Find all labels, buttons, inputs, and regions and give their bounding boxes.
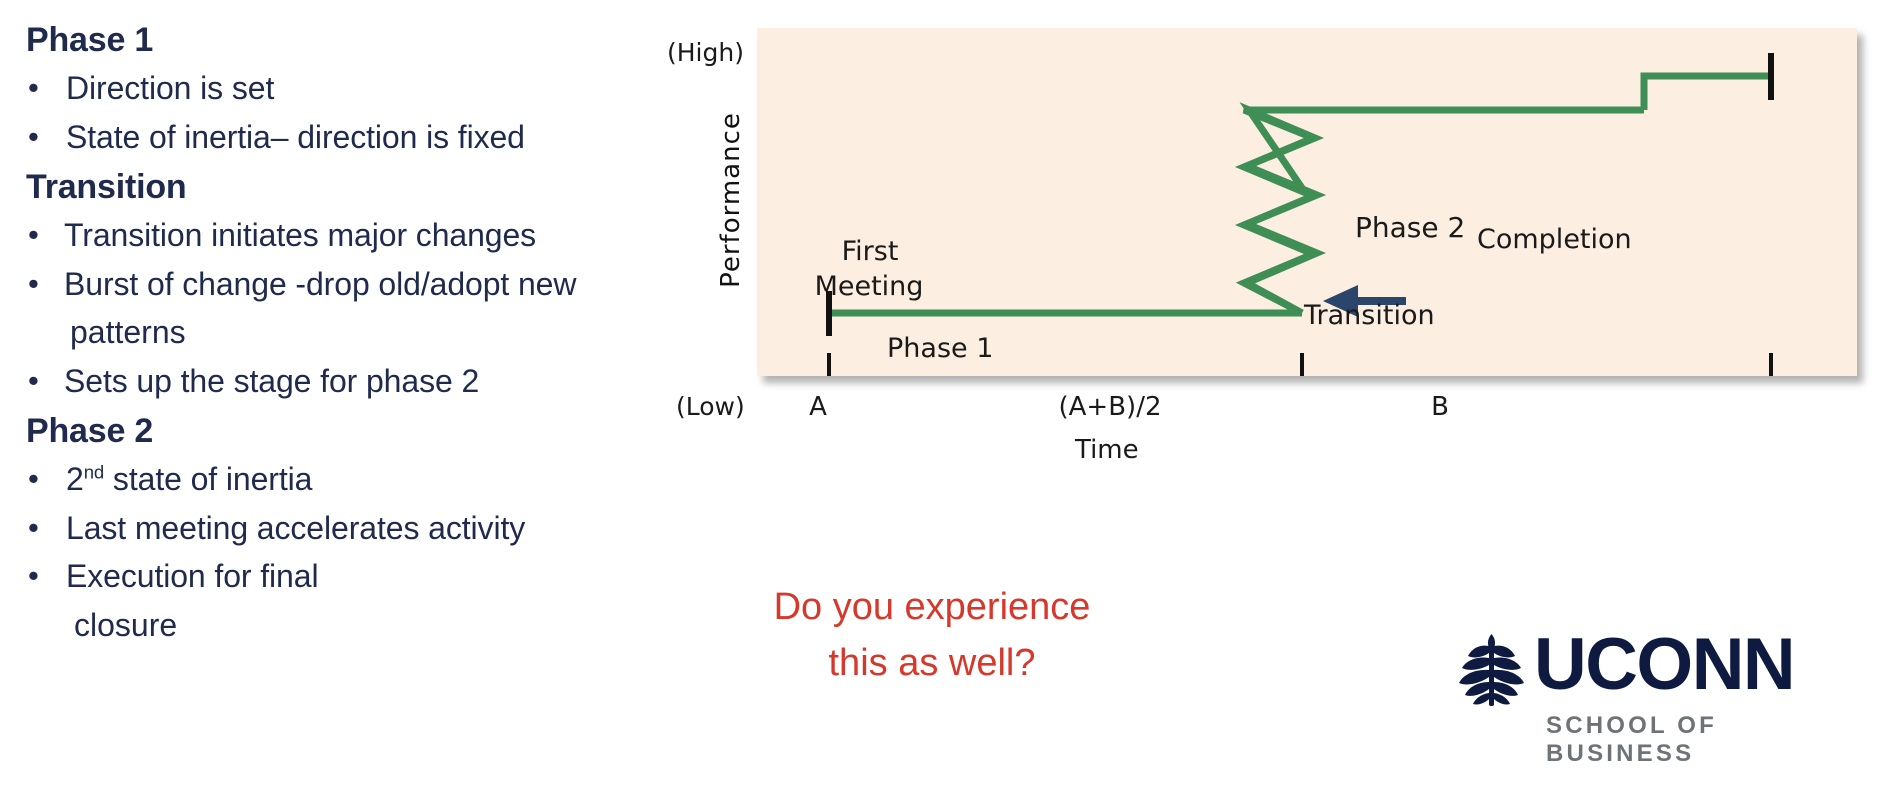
ordinal-number: 2	[66, 461, 84, 497]
list-item-label: Direction is set	[64, 66, 274, 111]
bullet-dot-icon: •	[22, 262, 64, 306]
ordinal-remainder: state of inertia	[104, 461, 312, 497]
list-item-label: 2nd state of inertia	[64, 457, 312, 502]
chart-plot-area: First Meeting Phase 1 Phase 2 Transition…	[757, 28, 1857, 376]
phase-2-label: Phase 2	[1355, 211, 1465, 244]
list-item-label: Transition initiates major changes	[64, 213, 536, 258]
oak-leaf-icon	[1452, 632, 1532, 710]
bullet-dot-icon: •	[22, 457, 64, 501]
bullet-dot-icon: •	[22, 66, 64, 110]
x-tick-label-b: B	[1410, 392, 1470, 422]
ordinal-suffix: nd	[84, 462, 104, 483]
bullet-dot-icon: •	[22, 213, 64, 257]
bullet-dot-icon: •	[22, 115, 64, 159]
bullet-dot-icon: •	[22, 506, 64, 550]
first-meeting-label-line2: Meeting	[789, 271, 949, 302]
transition-label: Transition	[1304, 300, 1435, 331]
logo-row: UCONN	[1448, 630, 1868, 708]
question-line-2: this as well?	[752, 636, 1112, 692]
completion-step-line	[1644, 76, 1771, 110]
y-axis-high-label: (High)	[667, 38, 744, 67]
y-axis-low-label: (Low)	[676, 392, 745, 421]
list-item-label: State of inertia– direction is fixed	[64, 115, 525, 160]
uconn-logo: UCONN SCHOOL OF BUSINESS	[1448, 630, 1868, 770]
reflection-question: Do you experience this as well?	[752, 580, 1112, 692]
performance-time-chart: (High) (Low) Performance Time A (A+B)/2 …	[660, 10, 1860, 480]
x-tick-label-mid: (A+B)/2	[1030, 392, 1190, 422]
list-item: • Last meeting accelerates activity	[22, 506, 842, 551]
slide-canvas: Phase 1 • Direction is set • State of in…	[0, 0, 1887, 785]
phase-1-label: Phase 1	[887, 333, 993, 364]
x-axis-title: Time	[1075, 435, 1139, 465]
completion-label: Completion	[1477, 224, 1632, 255]
list-item-continuation: closure	[74, 603, 842, 648]
list-item-label: Sets up the stage for phase 2	[64, 359, 479, 404]
list-item-label: Execution for final	[64, 554, 318, 599]
bullet-dot-icon: •	[22, 554, 64, 598]
list-item-label: Burst of change -drop old/adopt new	[64, 262, 576, 307]
uconn-school-of-business-label: SCHOOL OF BUSINESS	[1546, 712, 1868, 768]
x-tick-label-a: A	[788, 392, 848, 422]
first-meeting-label-line1: First	[805, 236, 935, 267]
question-line-1: Do you experience	[752, 580, 1112, 636]
y-axis-title: Performance	[716, 112, 746, 288]
list-item-label: Last meeting accelerates activity	[64, 506, 525, 551]
list-item: • Execution for final	[22, 554, 842, 599]
bullet-dot-icon: •	[22, 359, 64, 403]
uconn-wordmark: UCONN	[1534, 628, 1794, 701]
